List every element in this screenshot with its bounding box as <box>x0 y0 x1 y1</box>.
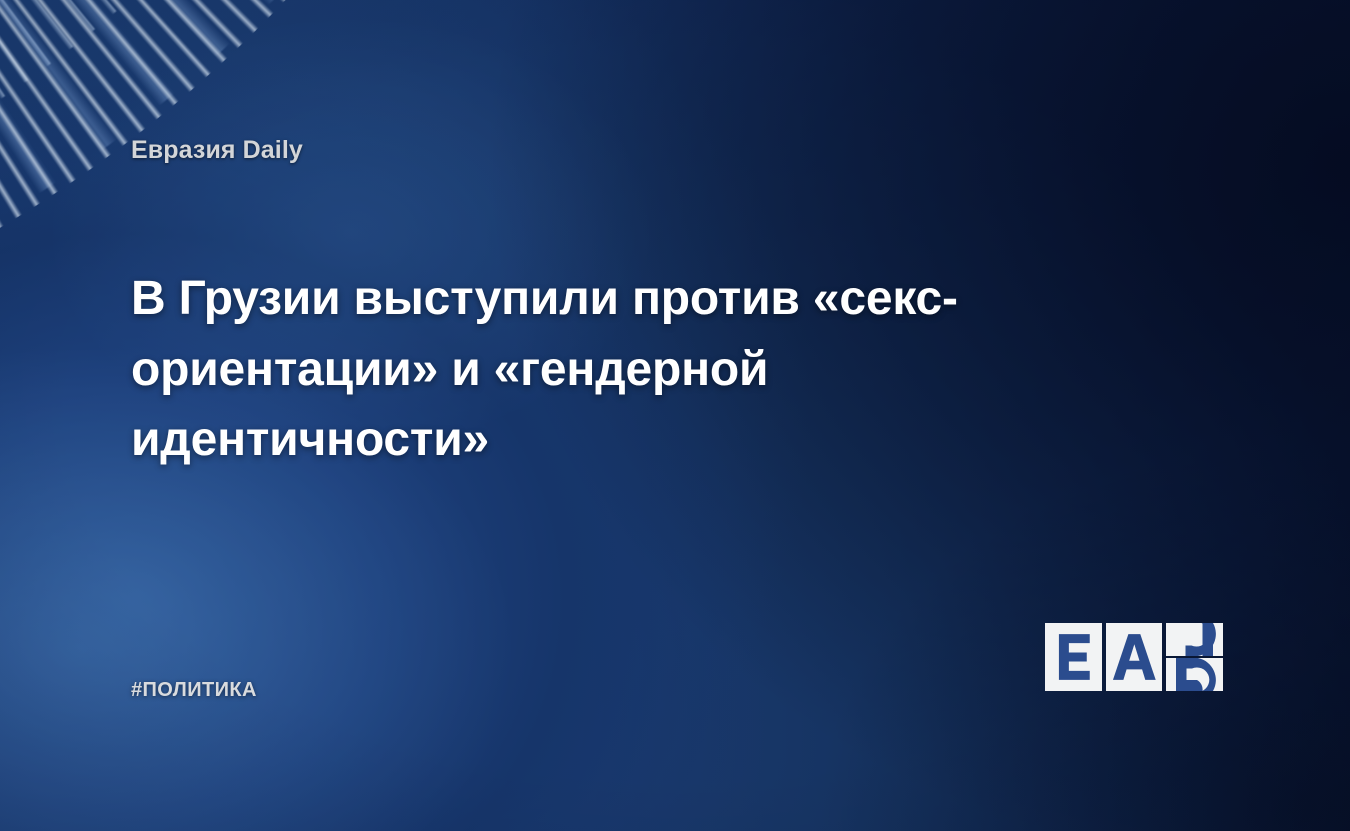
logo-letter-d-tile <box>1166 623 1223 691</box>
letter-a-icon <box>1106 623 1163 691</box>
page-title: В Грузии выступили против «секс-ориентац… <box>131 264 1041 476</box>
card-content: Евразия Daily В Грузии выступили против … <box>0 0 1350 831</box>
logo-letter-e-tile <box>1045 623 1102 691</box>
letter-d-upper-icon <box>1166 623 1223 656</box>
letter-e-icon <box>1045 623 1102 691</box>
brand-label: Евразия Daily <box>131 136 303 165</box>
news-card: Евразия Daily В Грузии выступили против … <box>0 0 1350 831</box>
ead-logo <box>1045 623 1223 691</box>
logo-letter-d-upper-half <box>1166 623 1223 656</box>
logo-letter-d-lower-half <box>1166 658 1223 691</box>
category-tag: #ПОЛИТИКА <box>131 679 257 702</box>
logo-letter-a-tile <box>1106 623 1163 691</box>
letter-d-lower-icon <box>1166 658 1223 691</box>
